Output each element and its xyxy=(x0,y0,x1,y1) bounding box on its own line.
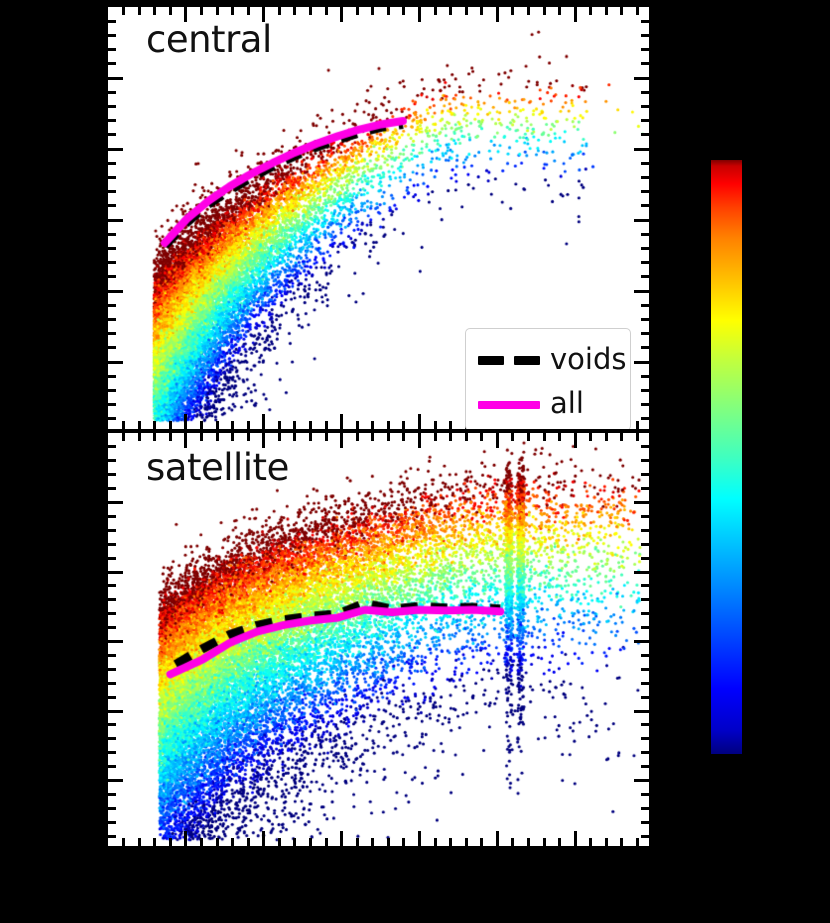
legend-entry-all: all xyxy=(466,383,630,425)
scatter-plot-satellite xyxy=(108,433,649,846)
legend-box: voids all xyxy=(465,328,631,431)
legend-label-all: all xyxy=(550,389,584,418)
figure-root: central voids all satellite xyxy=(0,0,830,923)
dashed-line-icon xyxy=(478,349,540,371)
panel-central: central voids all xyxy=(106,5,651,431)
legend-entry-voids: voids xyxy=(466,339,630,381)
legend-label-voids: voids xyxy=(550,345,626,374)
solid-line-icon xyxy=(478,393,540,415)
colorbar xyxy=(711,160,742,754)
panel-satellite: satellite xyxy=(106,431,651,848)
